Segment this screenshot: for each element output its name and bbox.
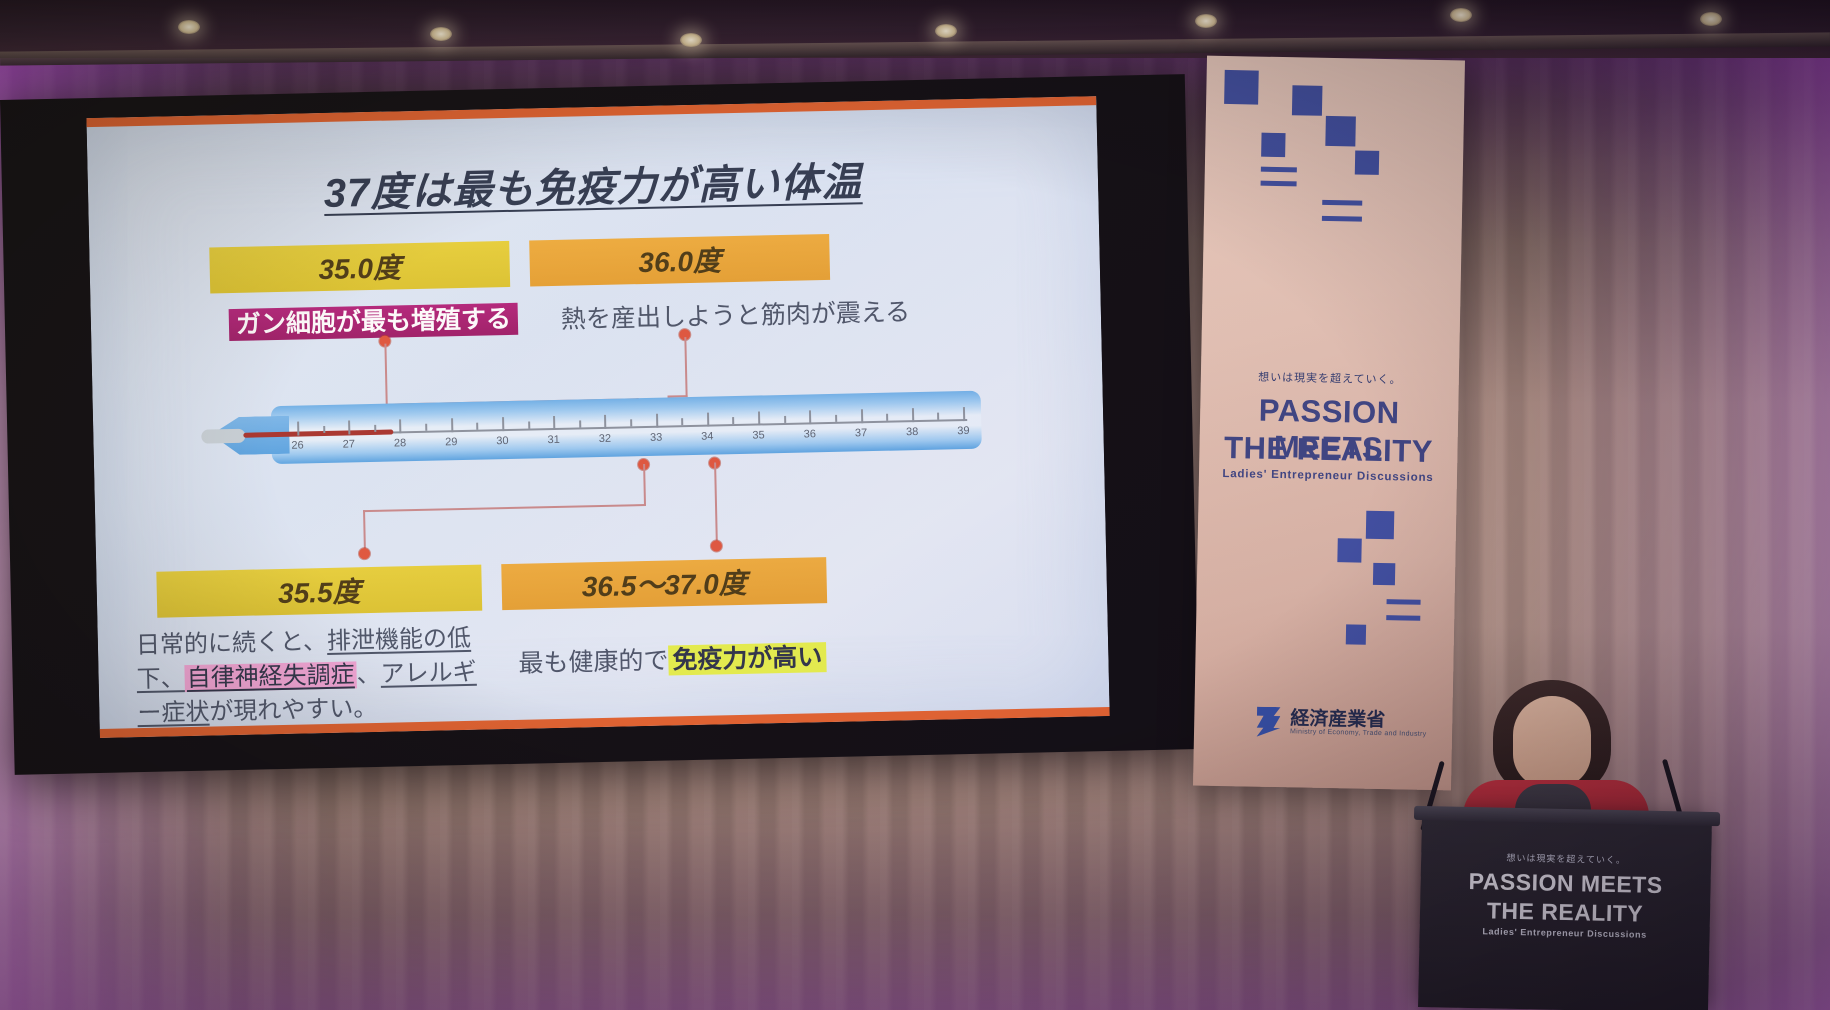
stage-scene: 37度は最も免疫力が高い体温 35.0度 36.0度 ガン細胞が最も増殖する 熱…: [0, 0, 1830, 1010]
note-ltx-2: 排泄機能の低: [327, 625, 472, 655]
leader-line: [643, 464, 646, 506]
scale-tick-major: [860, 409, 862, 423]
slide-title: 37度は最も免疫力が高い体温: [87, 144, 1098, 224]
scale-tick-label: 37: [855, 427, 868, 439]
scale-tick-label: 30: [496, 435, 509, 447]
spotlight-icon: [178, 20, 200, 34]
scale-tick-label: 31: [547, 434, 560, 446]
banner-dash: [1261, 167, 1297, 173]
spotlight-icon: [680, 33, 702, 47]
bar-35-0: 35.0度: [209, 241, 510, 294]
spotlight-icon: [430, 27, 452, 41]
scale-tick-major: [604, 415, 606, 429]
meti-logo-en: Ministry of Economy, Trade and Industry: [1290, 728, 1427, 738]
bar-36-5-37-0: 36.5〜37.0度: [501, 557, 827, 610]
screen-surface: 37度は最も免疫力が高い体温 35.0度 36.0度 ガン細胞が最も増殖する 熱…: [86, 96, 1109, 738]
scale-tick-minor: [681, 418, 683, 425]
scale-tick-major: [400, 419, 402, 433]
note-ltx-7: ー症状: [137, 699, 210, 728]
meti-logo-jp: 経済産業省: [1290, 709, 1427, 731]
marker-dot: [359, 548, 370, 559]
note-ltx-5: 、: [356, 661, 381, 689]
scale-tick-minor: [784, 416, 786, 423]
scale-tick-major: [502, 417, 504, 431]
leader-line: [363, 504, 646, 512]
podium-tagline: 想いは現実を超えていく。: [1421, 849, 1711, 868]
spotlight-icon: [935, 24, 957, 38]
note-ltx-8: が現れやすい。: [209, 695, 378, 726]
podium: 想いは現実を超えていく。 PASSION MEETS THE REALITY L…: [1418, 815, 1712, 1010]
scale-tick-minor: [579, 420, 581, 427]
meti-logo-icon: [1250, 707, 1281, 738]
scale-tick-minor: [323, 426, 325, 433]
speaker-face: [1513, 696, 1591, 788]
thermometer-bulb: [201, 429, 245, 444]
scale-tick-minor: [476, 423, 478, 430]
banner-dash: [1322, 200, 1362, 206]
spotlight-icon: [1195, 14, 1217, 28]
note-ltx-1: 日常的に続くと、: [136, 628, 328, 659]
scale-tick-label: 33: [650, 432, 663, 444]
note-cancer-growth-text: ガン細胞が最も増殖する: [229, 303, 519, 341]
scale-tick-label: 35: [752, 429, 765, 441]
note-cancer-growth: ガン細胞が最も増殖する: [229, 299, 519, 341]
note-low-temp-symptoms: 日常的に続くと、排泄機能の低下、自律神経失調症、アレルギー症状が現れやすい。: [136, 622, 488, 732]
scale-tick-label: 26: [291, 439, 304, 451]
scale-tick-label: 39: [957, 425, 970, 437]
presentation-slide: 37度は最も免疫力が高い体温 35.0度 36.0度 ガン細胞が最も増殖する 熱…: [86, 96, 1109, 738]
scale-tick-major: [758, 411, 760, 425]
leader-line: [684, 337, 687, 397]
scale-tick-label: 29: [445, 436, 458, 448]
banner-square: [1261, 133, 1285, 157]
banner-tagline: 想いは現実を超えていく。: [1201, 368, 1459, 389]
banner-square: [1337, 538, 1361, 562]
scale-tick-label: 36: [804, 428, 817, 440]
slide-top-rule: [86, 96, 1096, 127]
banner-dash: [1387, 599, 1421, 605]
scale-tick-minor: [886, 414, 888, 421]
scale-tick-minor: [937, 413, 939, 420]
note-hi-1: 最も健康的で: [518, 647, 669, 678]
note-hi-2: 免疫力が高い: [668, 642, 827, 675]
banner-square: [1224, 70, 1259, 105]
banner-square: [1292, 85, 1323, 116]
scale-tick-label: 38: [906, 426, 919, 438]
note-healthiest-immunity: 最も健康的で免疫力が高い: [518, 637, 827, 680]
leader-line: [384, 344, 387, 406]
marker-dot: [711, 540, 722, 551]
banner-square: [1366, 511, 1395, 540]
scale-tick-minor: [835, 415, 837, 422]
note-ltx-4: 自律神経失調症: [184, 661, 357, 692]
scale-tick-label: 27: [343, 438, 356, 450]
meti-logo: 経済産業省 Ministry of Economy, Trade and Ind…: [1250, 707, 1427, 740]
banner-title-line2: THE REALITY: [1199, 430, 1458, 471]
note-ltx-6: アレルギ: [380, 659, 477, 688]
podium-title-line1: PASSION MEETS: [1420, 867, 1711, 900]
scale-tick-major: [451, 418, 453, 432]
scale-tick-major: [707, 413, 709, 427]
scale-tick-label: 32: [599, 433, 612, 445]
scale-tick-major: [348, 420, 350, 434]
scale-tick-label: 34: [701, 431, 714, 443]
scale-tick-minor: [528, 422, 530, 429]
banner-dash: [1322, 216, 1362, 222]
banner-square: [1346, 624, 1366, 644]
bar-35-5: 35.5度: [156, 565, 482, 618]
scale-tick-major: [809, 410, 811, 424]
event-banner: 想いは現実を超えていく。 PASSION MEETS THE REALITY L…: [1193, 56, 1465, 791]
projection-screen: 37度は最も免疫力が高い体温 35.0度 36.0度 ガン細胞が最も増殖する 熱…: [0, 74, 1199, 775]
banner-square: [1373, 563, 1395, 585]
leader-line: [363, 510, 366, 550]
note-muscle-shiver: 熱を産出しようと筋肉が震える: [560, 292, 910, 336]
banner-dash: [1261, 181, 1297, 187]
scale-tick-major: [297, 422, 299, 436]
spotlight-icon: [1700, 12, 1722, 26]
banner-dash: [1386, 615, 1420, 621]
scale-tick-minor: [630, 419, 632, 426]
leader-line: [714, 462, 718, 542]
banner-subtitle: Ladies' Entrepreneur Discussions: [1199, 468, 1457, 485]
scale-tick-major: [553, 416, 555, 430]
scale-tick-minor: [733, 417, 735, 424]
bar-36-0: 36.0度: [529, 234, 830, 287]
scale-tick-major: [656, 414, 658, 428]
scale-tick-label: 28: [394, 437, 407, 449]
thermometer-graphic: 2627282930313233343536373839: [211, 391, 982, 466]
spotlight-icon: [1450, 8, 1472, 22]
note-ltx-3: 下、: [136, 665, 185, 693]
scale-tick-major: [963, 407, 965, 421]
banner-square: [1325, 116, 1356, 147]
scale-tick-minor: [374, 425, 376, 432]
scale-tick-minor: [425, 424, 427, 431]
podium-title-line2: THE REALITY: [1420, 896, 1711, 929]
scale-tick-major: [912, 408, 914, 422]
banner-square: [1355, 150, 1379, 174]
